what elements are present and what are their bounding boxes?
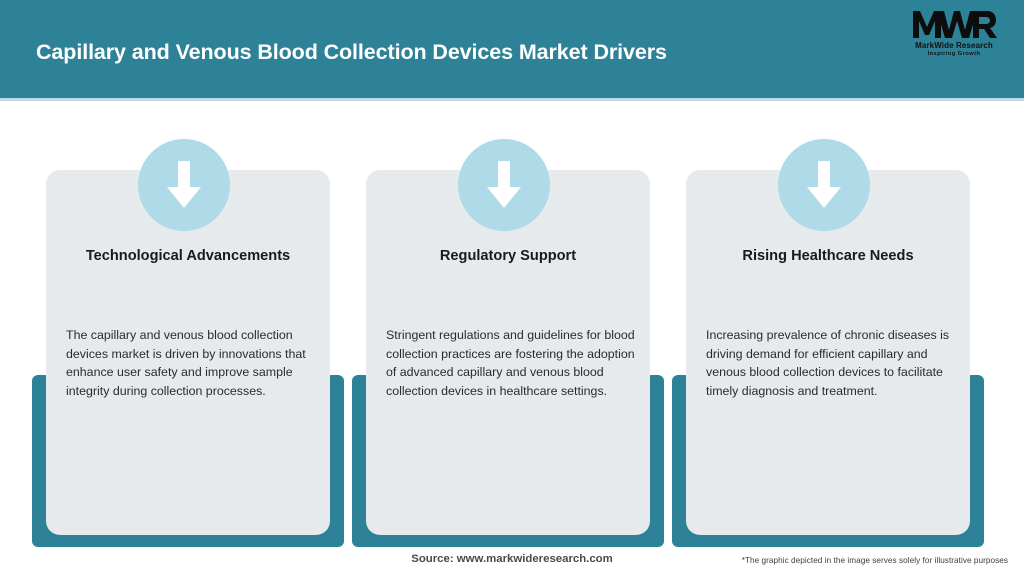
card-title: Regulatory Support bbox=[366, 246, 650, 266]
down-arrow-icon bbox=[458, 139, 550, 231]
driver-card[interactable]: Technological Advancements The capillary… bbox=[32, 98, 344, 538]
driver-card[interactable]: Regulatory Support Stringent regulations… bbox=[352, 98, 664, 538]
drivers-card-group: Technological Advancements The capillary… bbox=[0, 98, 1024, 538]
brand-logo: MarkWide Research Inspiring Growth bbox=[902, 8, 1006, 66]
card-body-text: The capillary and venous blood collectio… bbox=[66, 326, 324, 400]
down-arrow-icon bbox=[138, 139, 230, 231]
card-title: Rising Healthcare Needs bbox=[686, 246, 970, 266]
card-body-text: Stringent regulations and guidelines for… bbox=[386, 326, 644, 400]
disclaimer-note: *The graphic depicted in the image serve… bbox=[742, 556, 1008, 565]
logo-tagline: Inspiring Growth bbox=[902, 50, 1006, 58]
card-title: Technological Advancements bbox=[46, 246, 330, 266]
driver-card[interactable]: Rising Healthcare Needs Increasing preva… bbox=[672, 98, 984, 538]
mwr-logo-icon bbox=[911, 8, 997, 40]
page-title: Capillary and Venous Blood Collection De… bbox=[36, 38, 856, 66]
logo-company-name: MarkWide Research bbox=[902, 41, 1006, 50]
down-arrow-icon bbox=[778, 139, 870, 231]
card-body-text: Increasing prevalence of chronic disease… bbox=[706, 326, 964, 400]
